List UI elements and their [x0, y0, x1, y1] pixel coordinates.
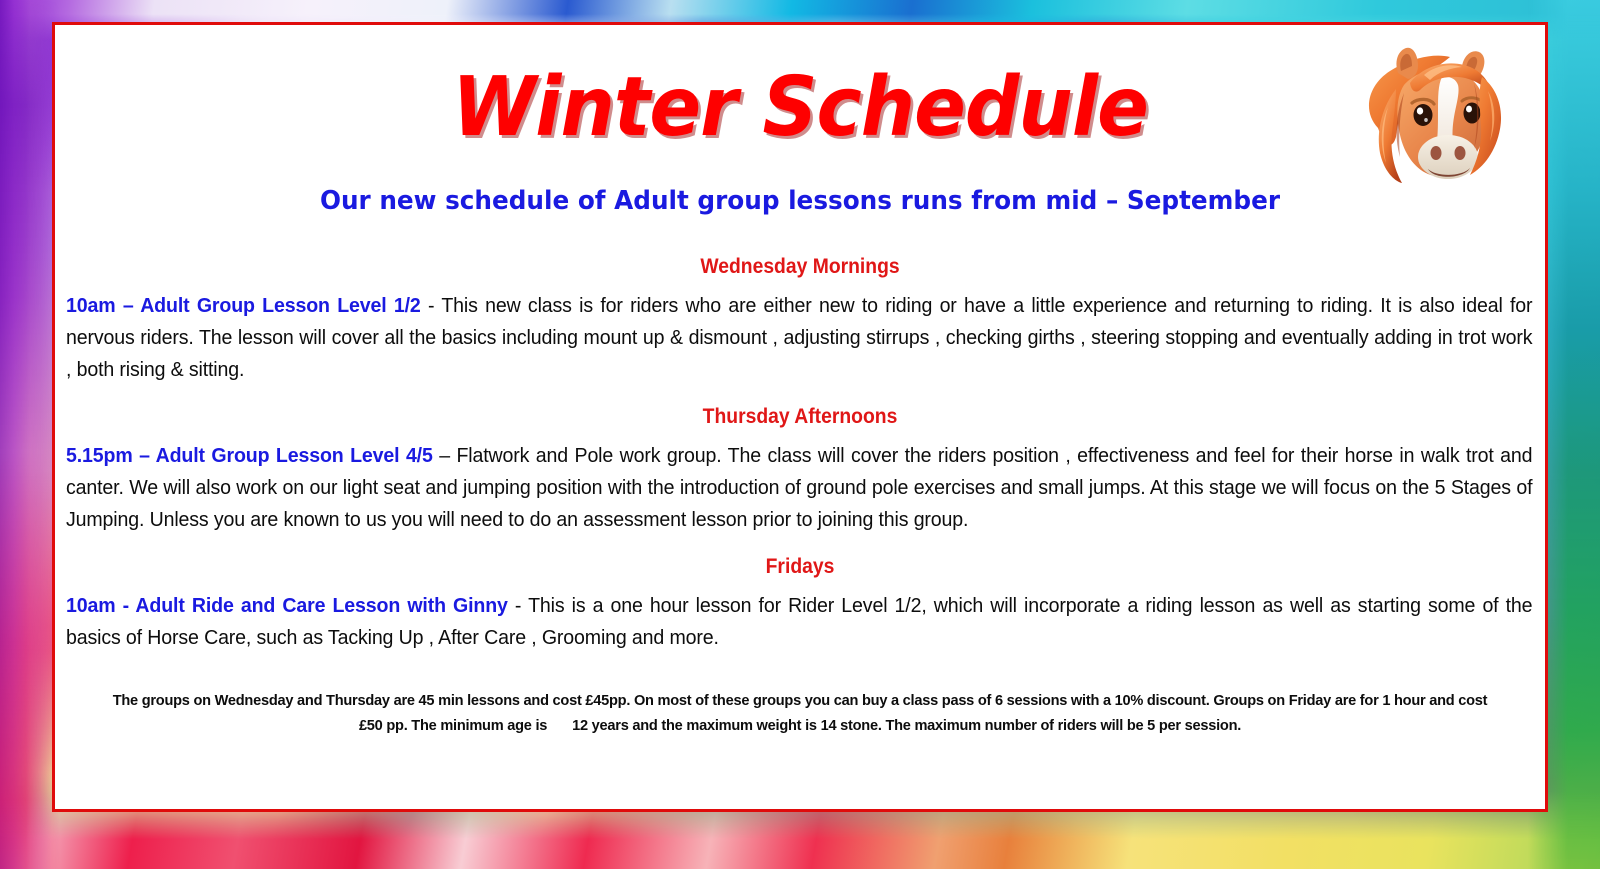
page-title: Winter Schedule: [107, 25, 1493, 149]
section-heading-thursday: Thursday Afternoons: [125, 386, 1476, 429]
section-paragraph-fridays: 10am - Adult Ride and Care Lesson with G…: [66, 579, 1532, 654]
section-lead-wednesday: 10am – Adult Group Lesson Level 1/2: [66, 294, 421, 317]
schedule-body: Wednesday Mornings 10am – Adult Group Le…: [55, 216, 1545, 738]
poster-canvas: Winter Schedule Our new schedule of Adul…: [0, 0, 1600, 869]
section-heading-wednesday: Wednesday Mornings: [125, 216, 1476, 279]
horse-head-icon: [1338, 33, 1513, 193]
section-lead-thursday: 5.15pm – Adult Group Lesson Level 4/5: [66, 444, 433, 467]
pricing-footnote-part2: 12 years and the maximum weight is 14 st…: [572, 717, 1241, 734]
page-subtitle: Our new schedule of Adult group lessons …: [92, 149, 1508, 216]
poster-card: Winter Schedule Our new schedule of Adul…: [52, 22, 1548, 812]
section-paragraph-wednesday: 10am – Adult Group Lesson Level 1/2 - Th…: [66, 279, 1532, 386]
pricing-footnote: The groups on Wednesday and Thursday are…: [95, 654, 1504, 738]
section-heading-fridays: Fridays: [125, 536, 1476, 579]
section-lead-fridays: 10am - Adult Ride and Care Lesson with G…: [66, 594, 508, 617]
section-paragraph-thursday: 5.15pm – Adult Group Lesson Level 4/5 – …: [66, 429, 1532, 536]
